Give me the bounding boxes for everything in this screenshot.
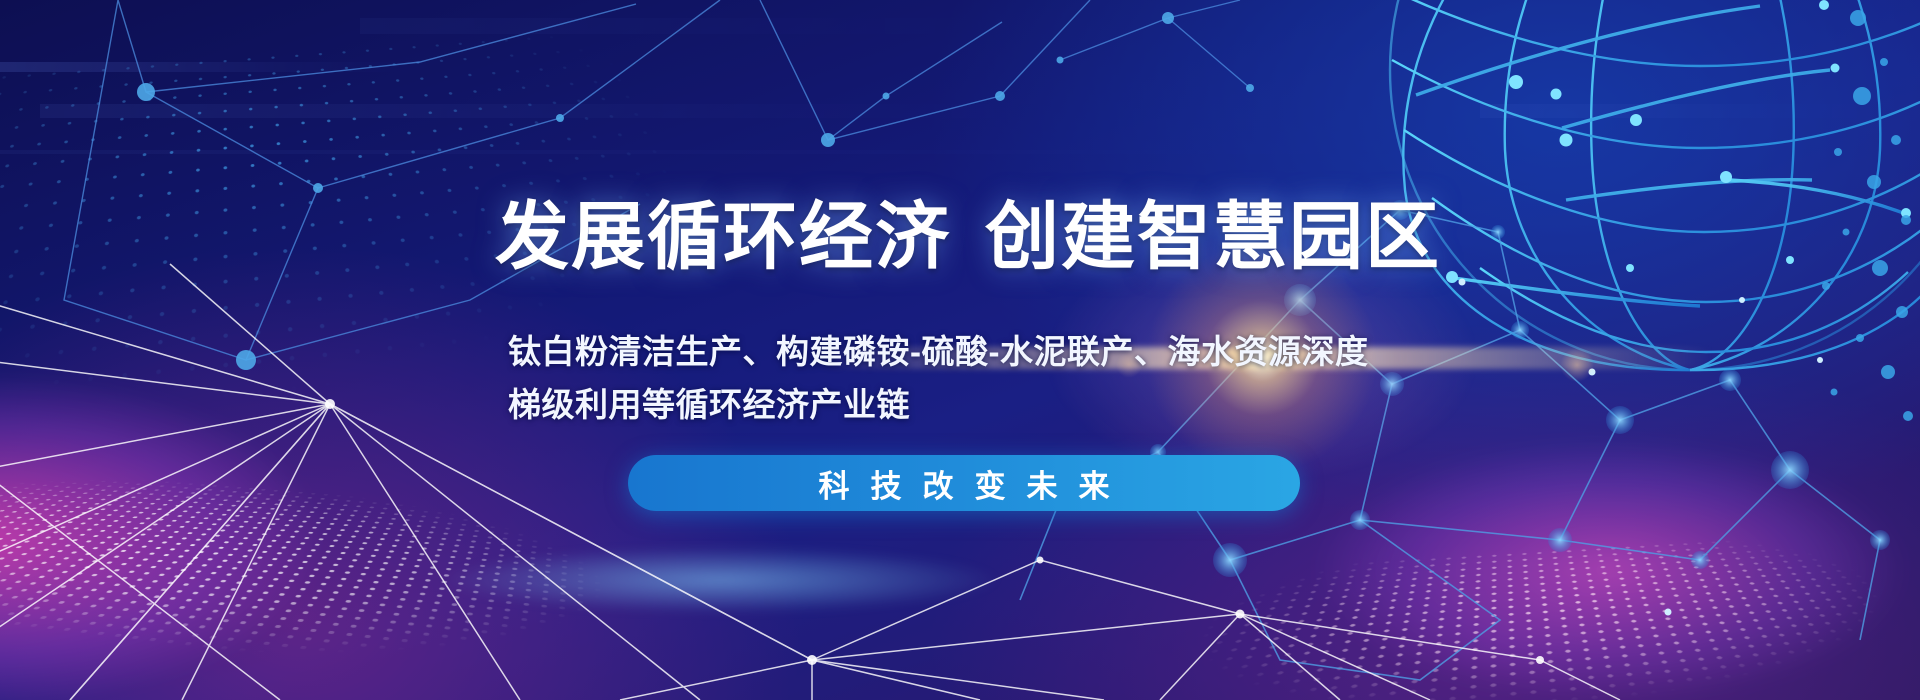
banner-title: 发展循环经济创建智慧园区 — [495, 200, 1441, 274]
subtitle-line-1: 钛白粉清洁生产、构建磷铵-硫酸-水泥联产、海水资源深度 — [508, 325, 1508, 378]
title-part-2: 创建智慧园区 — [985, 195, 1441, 278]
cta-button[interactable]: 科技改变未来 — [628, 455, 1300, 511]
cta-button-label: 科技改变未来 — [798, 461, 1131, 506]
banner-content: 发展循环经济创建智慧园区 钛白粉清洁生产、构建磷铵-硫酸-水泥联产、海水资源深度… — [0, 0, 1920, 700]
title-part-1: 发展循环经济 — [495, 195, 951, 278]
hero-banner: 发展循环经济创建智慧园区 钛白粉清洁生产、构建磷铵-硫酸-水泥联产、海水资源深度… — [0, 0, 1920, 700]
banner-subtitle: 钛白粉清洁生产、构建磷铵-硫酸-水泥联产、海水资源深度 梯级利用等循环经济产业链 — [508, 325, 1508, 432]
subtitle-line-2: 梯级利用等循环经济产业链 — [508, 378, 1508, 431]
